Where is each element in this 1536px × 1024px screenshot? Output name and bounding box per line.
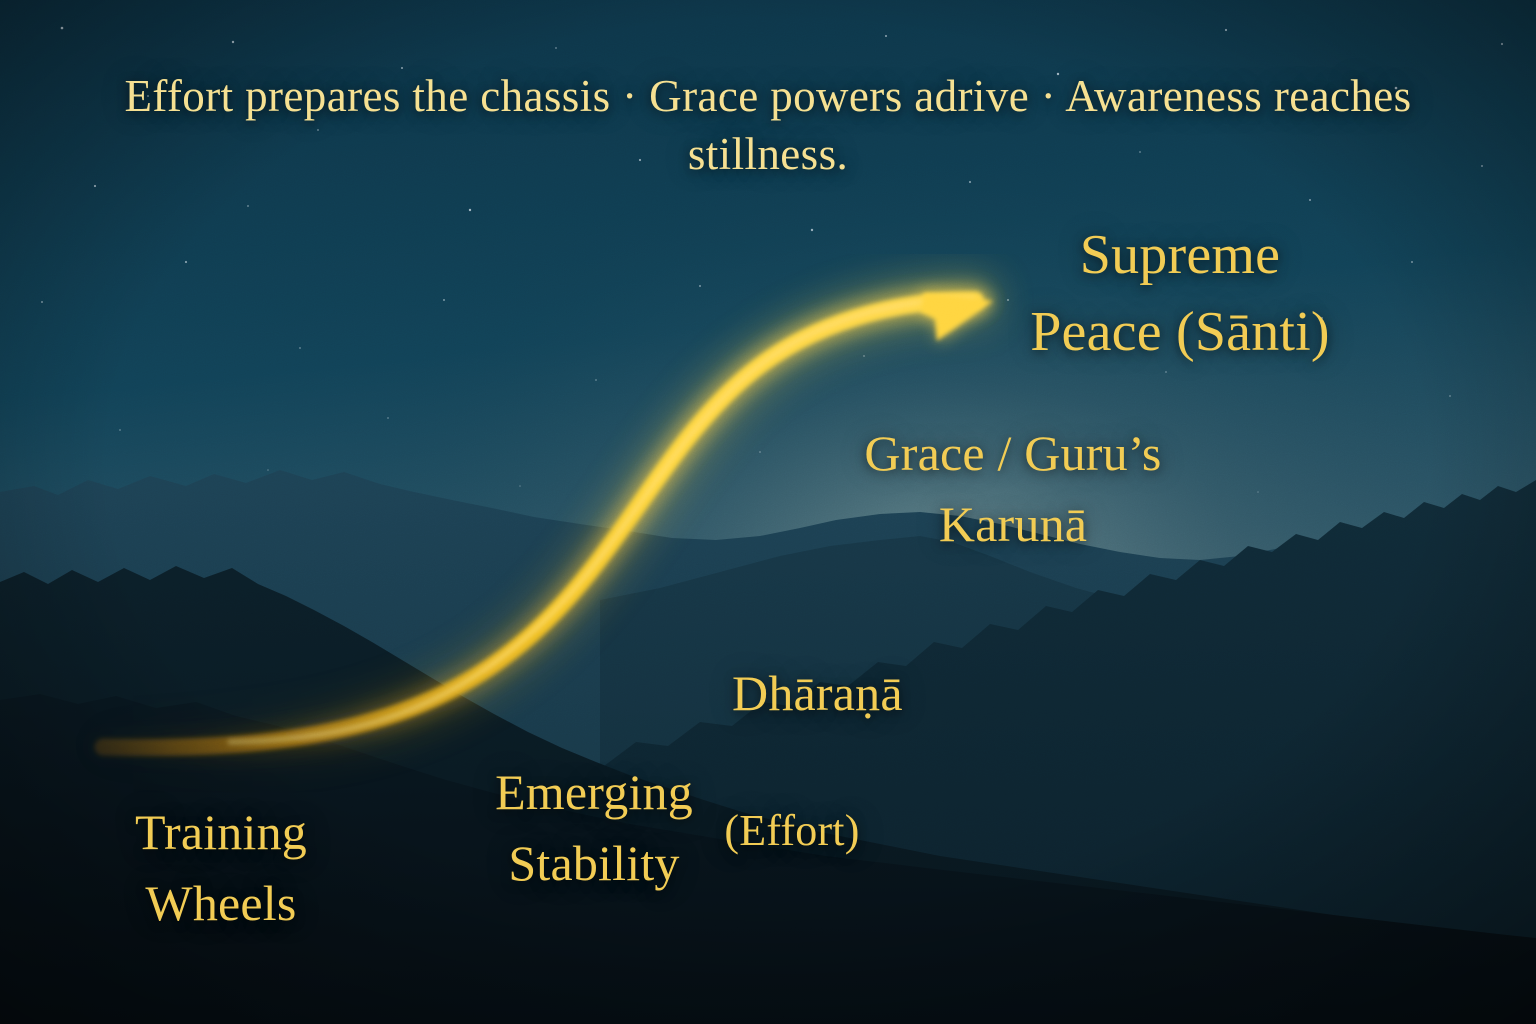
headline-quote: Effort prepares the chassis · Grace powe… bbox=[113, 68, 1423, 183]
label-dharana-main: Dhāraṇā bbox=[732, 665, 903, 721]
label-training-wheels: Training Wheels bbox=[135, 797, 307, 939]
label-supreme-peace: Supreme Peace (Sānti) bbox=[1030, 217, 1330, 372]
label-grace-karuna: Grace / Guru’s Karunā bbox=[864, 418, 1161, 560]
label-dharana-effort: Dhāraṇā (Effort) bbox=[681, 587, 903, 1004]
scenic-quote-graphic: Effort prepares the chassis · Grace powe… bbox=[0, 0, 1536, 1024]
label-dharana-sub: (Effort) bbox=[681, 800, 903, 862]
label-emerging-stability: Emerging Stability bbox=[495, 757, 693, 899]
